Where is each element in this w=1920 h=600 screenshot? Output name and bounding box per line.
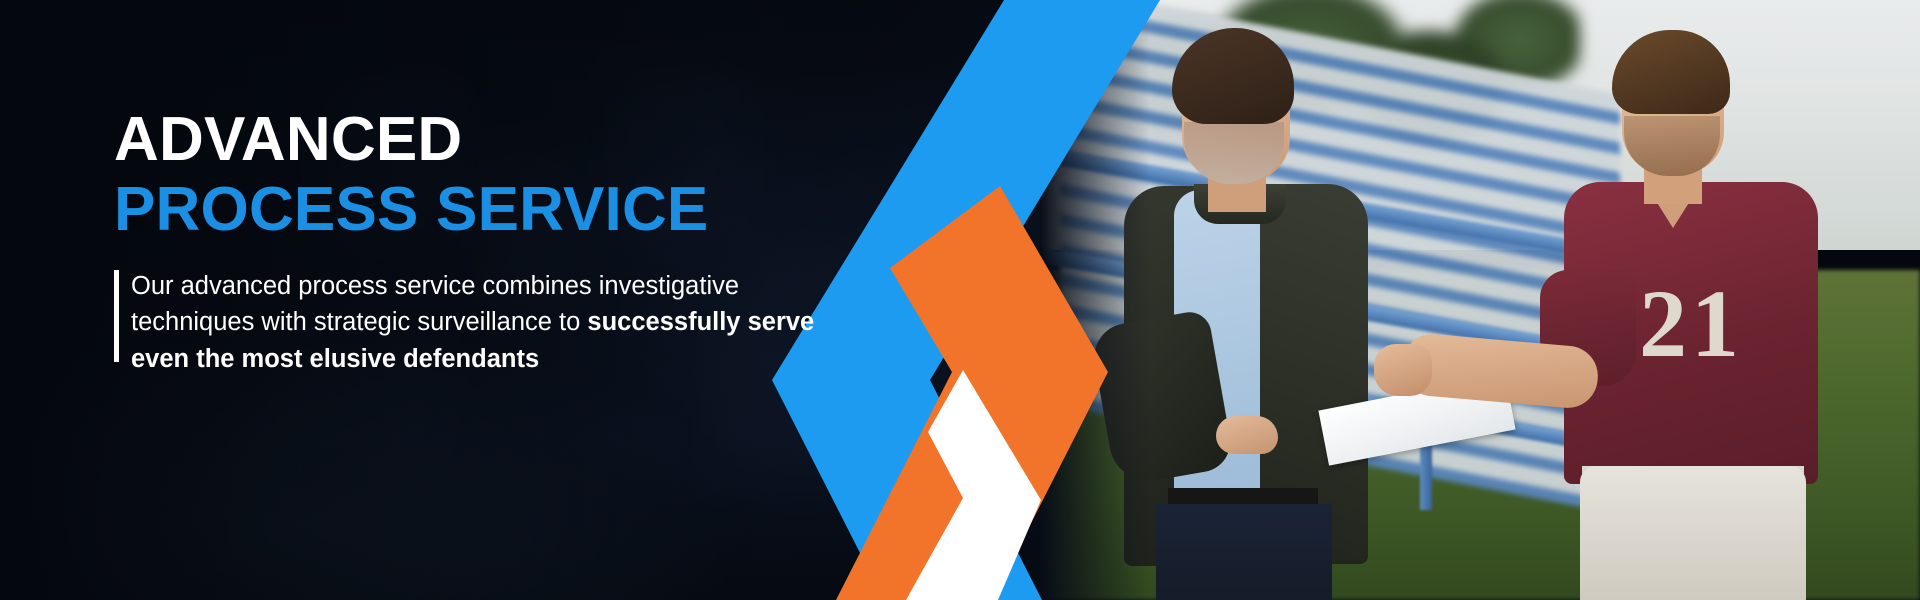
football-pants (1580, 466, 1806, 600)
hand-receiving-document (1374, 344, 1432, 396)
hero-text-block: ADVANCED PROCESS SERVICE Our advanced pr… (114, 108, 834, 378)
accent-bar (114, 270, 119, 362)
headline-line-2: PROCESS SERVICE (114, 178, 834, 242)
football-player-figure: 21 (1478, 4, 1908, 600)
headline-line-1: ADVANCED (114, 108, 834, 172)
photo-left-fade (1040, 0, 1150, 600)
beard (1624, 116, 1720, 176)
hero-banner: 21 ADVANCED PROCESS SERVICE Our advanced… (0, 0, 1920, 600)
hair (1172, 28, 1294, 124)
lede-paragraph: Our advanced process service combines in… (131, 268, 831, 378)
hair (1612, 30, 1730, 114)
jersey-number: 21 (1596, 276, 1786, 372)
open-hand (1216, 416, 1278, 454)
trousers (1156, 504, 1332, 600)
hero-photo: 21 (1040, 0, 1920, 600)
lede-wrapper: Our advanced process service combines in… (114, 268, 834, 378)
